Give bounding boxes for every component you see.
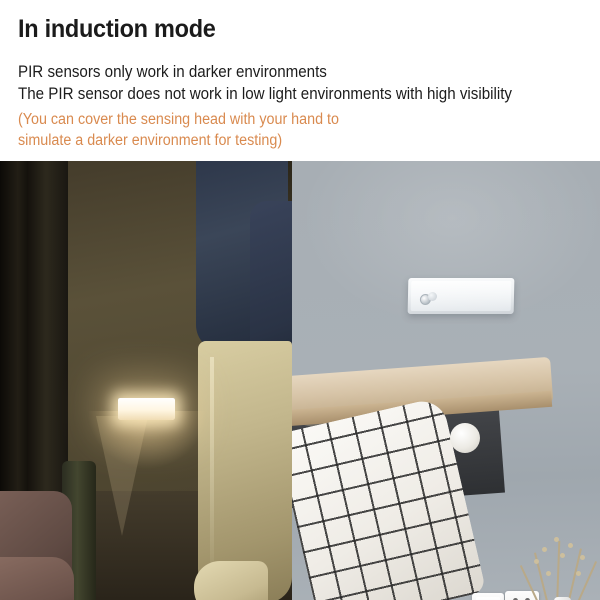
note-line-1: (You can cover the sensing head with you… xyxy=(18,109,546,130)
description-line-2: The PIR sensor does not work in low ligh… xyxy=(18,84,546,106)
flower-bud xyxy=(542,547,547,552)
armchair-cushion xyxy=(0,557,74,600)
note-block: (You can cover the sensing head with you… xyxy=(18,109,586,151)
description-line-1: PIR sensors only work in darker environm… xyxy=(18,62,546,84)
flower-bud xyxy=(554,537,559,542)
header-section: In induction mode PIR sensors only work … xyxy=(0,0,600,161)
photo-comparison-strip: PIR sensors only sense in darker environ… xyxy=(0,161,600,600)
flower-bud xyxy=(560,553,565,558)
pom-pom xyxy=(450,423,480,453)
flower-bud xyxy=(580,555,585,560)
photo-panel-bright-room: In low light environments, visibility is… xyxy=(292,161,600,600)
note-line-2: simulate a darker environment for testin… xyxy=(18,130,546,151)
description-block: PIR sensors only work in darker environm… xyxy=(18,62,586,105)
flower-bud xyxy=(576,571,581,576)
wall-light-switch[interactable] xyxy=(472,593,504,600)
curtain-far xyxy=(0,161,30,501)
infographic-page: In induction mode PIR sensors only work … xyxy=(0,0,600,600)
trouser-fold xyxy=(210,357,214,593)
dried-flowers xyxy=(530,531,596,600)
page-title: In induction mode xyxy=(18,14,552,45)
trouser-hem xyxy=(194,561,268,600)
flower-bud xyxy=(534,559,539,564)
photo-panel-dark-room: PIR sensors only sense in darker environ… xyxy=(0,161,292,600)
lamp-light-spill xyxy=(96,416,148,536)
led-bar-lamp-off-icon xyxy=(408,278,515,314)
flower-bud xyxy=(546,571,551,576)
flower-bud xyxy=(568,543,573,548)
flower-stem xyxy=(556,541,560,600)
led-bar-lamp-on-icon xyxy=(118,398,175,420)
